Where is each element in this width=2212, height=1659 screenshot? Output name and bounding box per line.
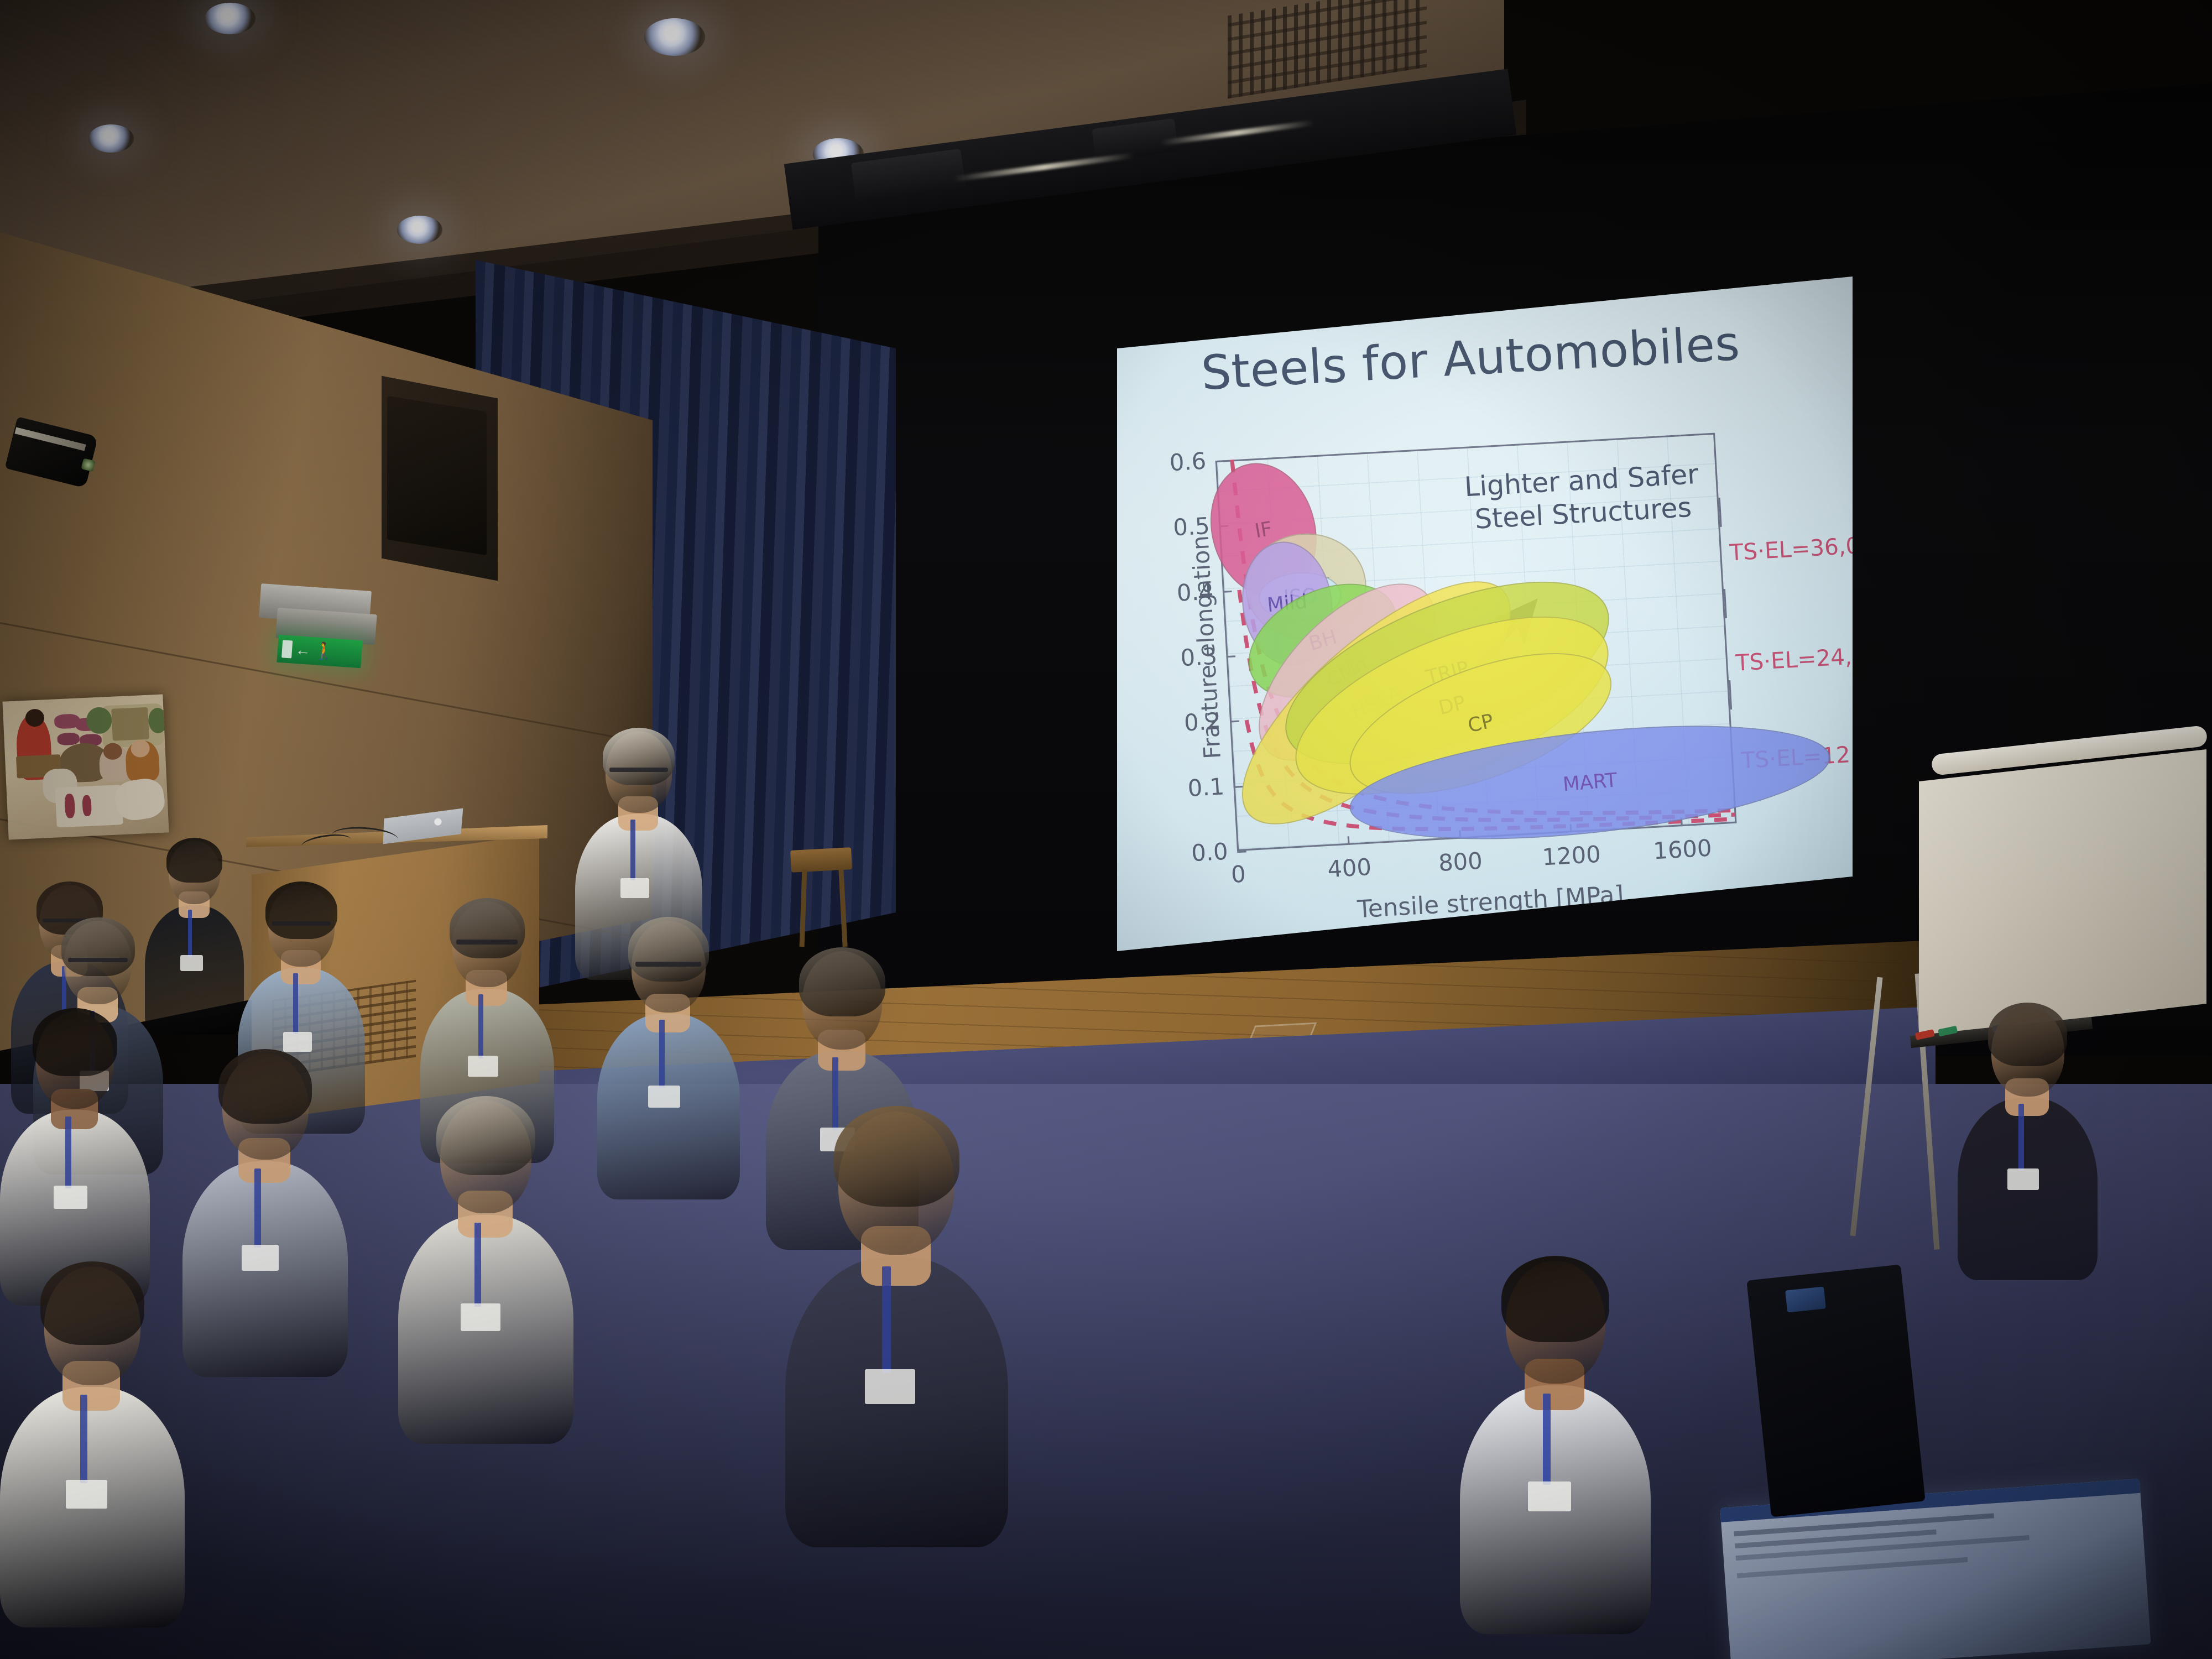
name-badge	[620, 878, 649, 898]
hair	[218, 1049, 312, 1124]
slide-viewport: Steels for Automobiles Fracture elongati…	[1117, 276, 1853, 951]
steel-group-label: IF	[1254, 517, 1274, 542]
eyeglasses	[456, 940, 518, 944]
isoline-label-36000: TS·EL=36,000	[1729, 531, 1853, 566]
audience-member	[182, 1053, 348, 1355]
arrow-left-icon: ←	[295, 642, 311, 659]
lanyard	[1543, 1394, 1551, 1485]
hair	[40, 1261, 145, 1345]
audience-member	[785, 1112, 1008, 1518]
y-tick-label: 0.2	[1183, 708, 1222, 737]
ceiling-speaker-box	[387, 396, 487, 556]
name-badge	[66, 1480, 107, 1509]
lanyard	[478, 994, 483, 1058]
audience-member	[597, 921, 740, 1181]
hair	[834, 1106, 960, 1207]
lanyard	[882, 1266, 891, 1373]
projection-screen: Steels for Automobiles Fracture elongati…	[1117, 276, 1853, 951]
downlight-1	[205, 3, 255, 34]
x-tick-label: 0	[1230, 861, 1246, 888]
name-badge	[648, 1086, 680, 1108]
y-tick-label: 0.5	[1172, 513, 1211, 541]
eyeglasses	[635, 962, 701, 967]
name-badge	[1528, 1481, 1571, 1511]
audience-member	[398, 1100, 573, 1421]
wall-mural-artwork	[2, 695, 169, 840]
y-tick-label: 0.1	[1187, 774, 1225, 802]
hair	[61, 917, 135, 976]
lanyard	[65, 1117, 71, 1188]
eyeglasses	[68, 958, 128, 962]
exit-door-icon	[281, 640, 293, 658]
y-tick-label: 0.6	[1169, 448, 1207, 476]
name-badge	[180, 955, 203, 971]
slide-content: Steels for Automobiles Fracture elongati…	[1117, 276, 1853, 951]
steel-group-label: CP	[1465, 709, 1495, 738]
name-badge	[468, 1056, 498, 1077]
audience-member	[1958, 1006, 2098, 1262]
audience-member	[1460, 1261, 1651, 1609]
hair	[1988, 1003, 2067, 1066]
name-badge	[2007, 1168, 2039, 1191]
lanyard	[188, 910, 192, 957]
lanyard	[293, 973, 298, 1034]
emergency-exit-sign: ← 🚶	[276, 635, 362, 668]
slide-title: Steels for Automobiles	[1117, 310, 1853, 408]
lanyard	[80, 1395, 87, 1483]
downlight-5	[397, 216, 442, 244]
hair	[603, 728, 675, 785]
lanyard	[659, 1020, 665, 1088]
y-tick-label: 0.0	[1191, 838, 1229, 867]
x-tick-label: 1600	[1652, 835, 1712, 865]
audience-laptop-lid	[1746, 1265, 1925, 1517]
name-badge	[242, 1245, 279, 1271]
lanyard	[474, 1223, 481, 1307]
hair	[628, 917, 709, 981]
lanyard	[630, 820, 635, 880]
lecture-theatre-photo: ← 🚶 Steels for Automobiles Fracture elon…	[0, 0, 2212, 1659]
eyeglasses	[609, 768, 668, 772]
lanyard	[254, 1168, 261, 1248]
lanyard	[2018, 1104, 2024, 1171]
downlight-3	[644, 18, 705, 56]
name-badge	[283, 1032, 312, 1052]
name-badge	[865, 1369, 915, 1404]
flipchart-paper	[1919, 749, 2206, 1037]
chart-plot-area: Fracture elongation Tensile strength [MP…	[1215, 433, 1737, 852]
chart-annotation: Lighter and Safer Steel Structures	[1464, 458, 1702, 537]
hair	[450, 898, 525, 958]
downlight-2	[88, 124, 134, 153]
hair	[265, 881, 337, 939]
name-badge	[461, 1303, 500, 1331]
hair	[1501, 1256, 1609, 1342]
steel-group-label: MART	[1562, 769, 1618, 796]
audience-member	[0, 1266, 185, 1603]
x-tick-label: 400	[1327, 854, 1372, 883]
hair	[33, 1008, 117, 1076]
audience-member	[0, 1012, 150, 1286]
eyeglasses	[272, 921, 331, 926]
isoline-label-24000: TS·EL=24,000	[1735, 642, 1853, 677]
hair	[436, 1096, 535, 1176]
x-tick-label: 800	[1438, 848, 1483, 877]
hair	[166, 838, 222, 883]
x-tick-label: 1200	[1542, 841, 1601, 871]
running-man-icon: 🚶	[314, 643, 335, 661]
y-tick-label: 0.4	[1176, 578, 1214, 606]
chart-x-axis-label: Tensile strength [MPa]	[1240, 874, 1741, 930]
y-tick-label: 0.3	[1180, 643, 1218, 671]
hair	[799, 947, 885, 1016]
laptop-logo-icon	[1785, 1286, 1826, 1312]
name-badge	[54, 1186, 87, 1209]
